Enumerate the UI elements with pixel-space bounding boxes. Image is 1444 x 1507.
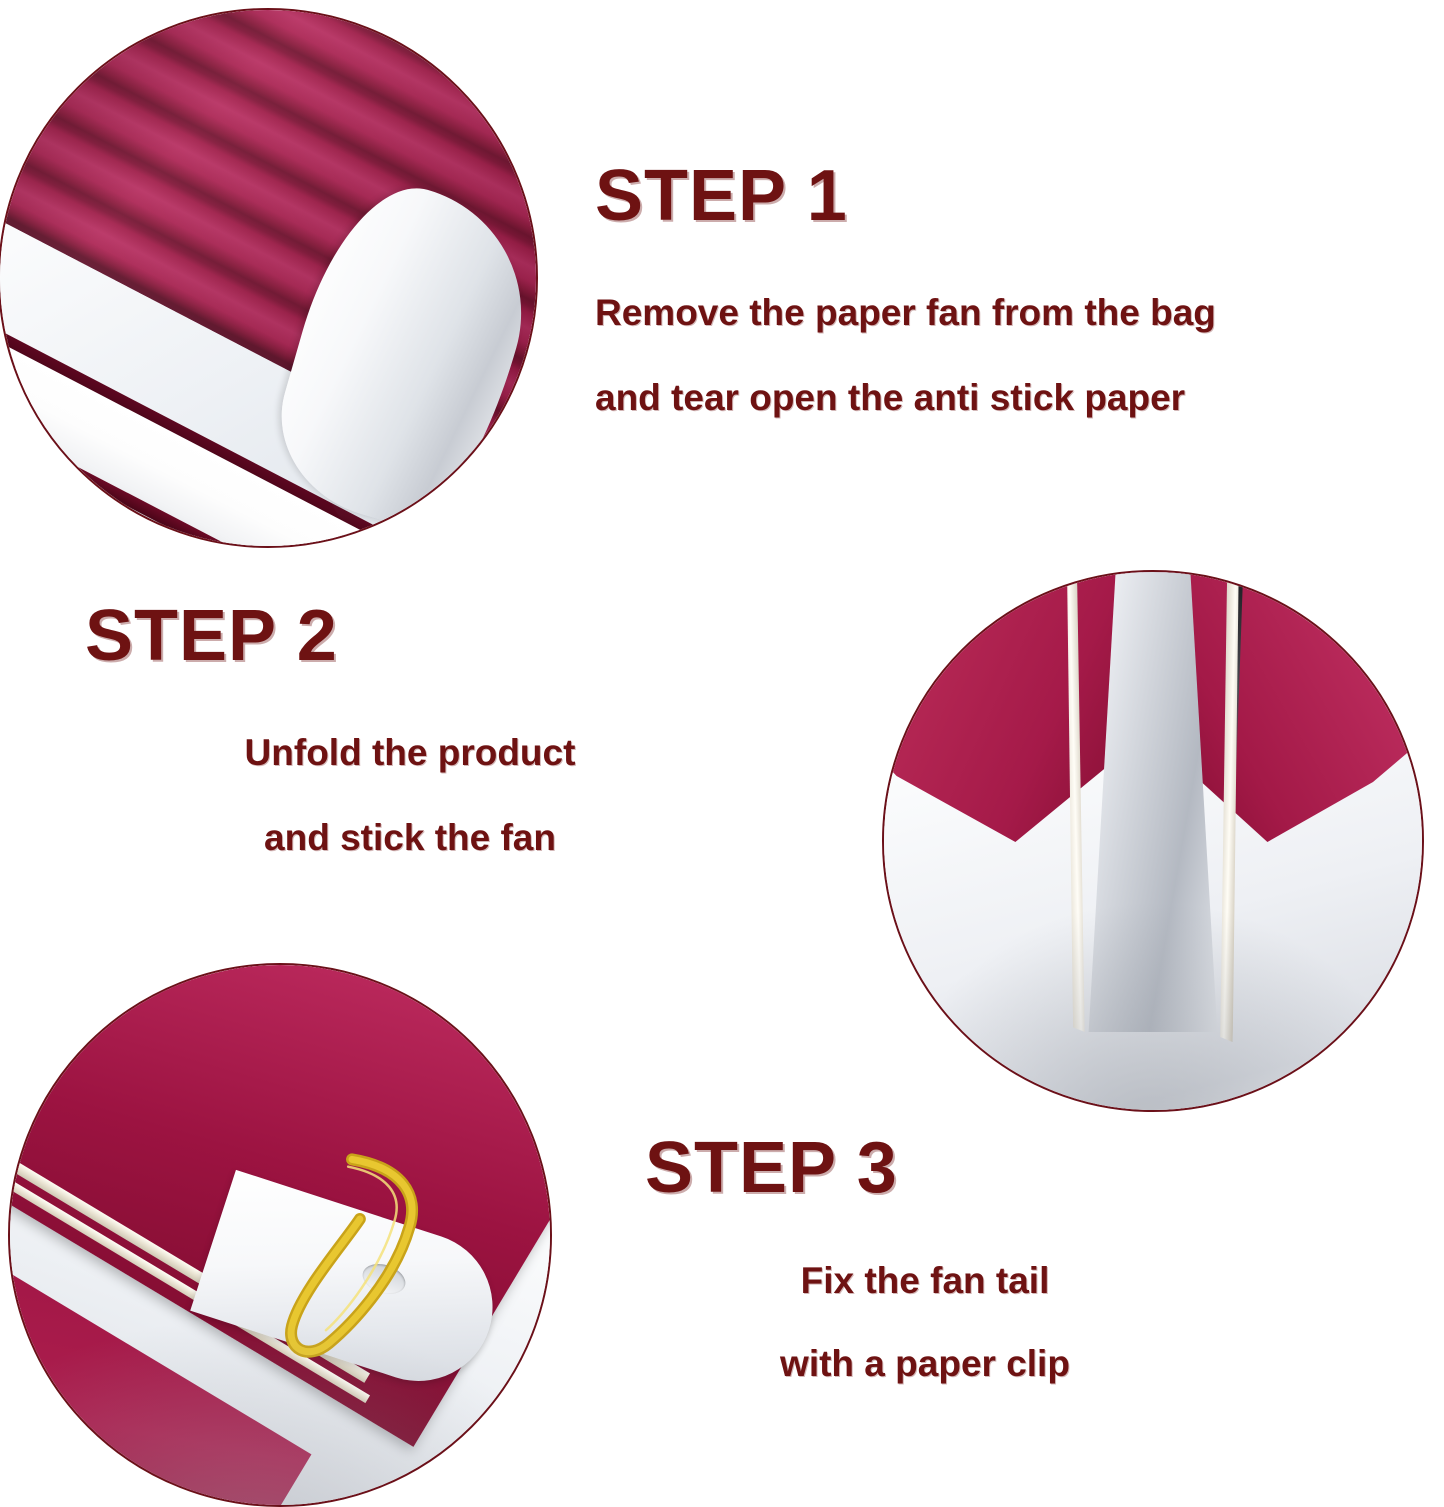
step-1-line-1: Remove the paper fan from the bag [595,294,1216,331]
step-2-title: STEP 2 [85,600,735,672]
lower-shadow [884,900,1422,1112]
step-1-text-block: STEP 1 Remove the paper fan from the bag… [595,160,1216,416]
instruction-infographic: { "page": { "type": "product-instruction… [0,0,1444,1500]
pleated-fan-with-adhesive-strip-photo [0,8,538,548]
photo-inner-step1 [0,10,536,546]
step-2-text-block: STEP 2 Unfold the product and stick the … [85,600,735,856]
step-3-text-block: STEP 3 Fix the fan tail with a paper cli… [645,1132,1205,1382]
step-1-title: STEP 1 [595,160,1216,232]
photo-inner-step2 [884,572,1422,1110]
fan-tail-with-paper-clip-photo [8,963,552,1507]
step-2-line-2: and stick the fan [85,819,735,856]
step-3-line-1: Fix the fan tail [645,1262,1205,1299]
step-2-line-1: Unfold the product [85,734,735,771]
step-3-title: STEP 3 [645,1132,1205,1204]
unfolded-fan-tail-photo [882,570,1424,1112]
photo-inner-step3 [10,965,550,1505]
step-3-line-2: with a paper clip [645,1345,1205,1382]
lower-shadow [8,1315,552,1507]
step-1-line-2: and tear open the anti stick paper [595,379,1216,416]
